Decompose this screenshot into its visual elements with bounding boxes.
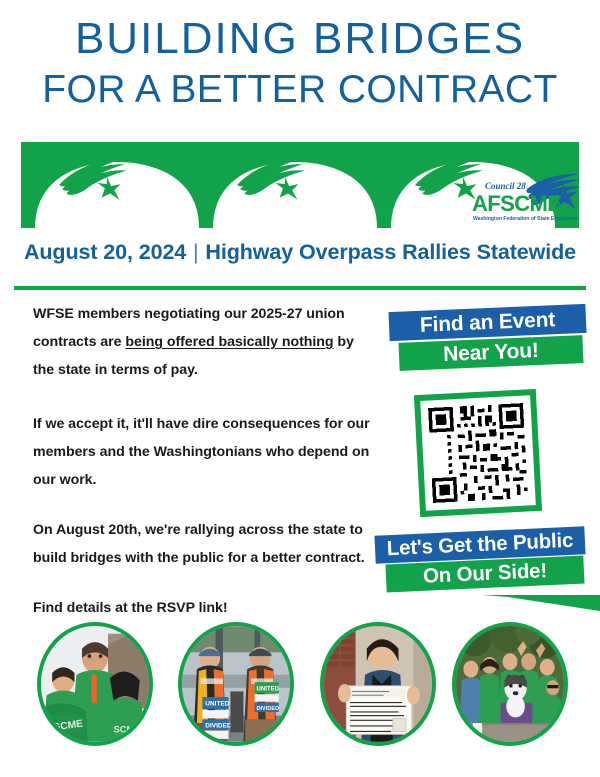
dateline-separator: | [192, 240, 200, 264]
event-dateline: August 20, 2024 | Highway Overpass Ralli… [0, 240, 600, 265]
svg-text:SCME: SCME [114, 724, 141, 734]
svg-text:Washington Federation of State: Washington Federation of State Employees [473, 216, 578, 222]
event-date: August 20, 2024 [24, 240, 186, 264]
svg-text:DIVIDED: DIVIDED [205, 723, 232, 730]
photo-strip: SCME SCME [0, 622, 600, 750]
photo-group-with-dog [452, 622, 568, 746]
photo-members-green-shirts: SCME SCME [37, 622, 153, 746]
section-divider [14, 286, 586, 290]
corner-accent [482, 595, 600, 611]
event-description: Highway Overpass Rallies Statewide [205, 240, 576, 264]
headline-line-2: FOR A BETTER CONTRACT [0, 67, 600, 113]
svg-text:UNITED: UNITED [256, 687, 279, 693]
qr-code-image [420, 395, 536, 511]
paragraph-2: If we accept it, it'll have dire consequ… [33, 410, 378, 494]
paragraph-1-emphasis: being offered basically nothing [125, 334, 333, 350]
photo-member-with-sign [320, 622, 436, 746]
svg-text:DIVIDED: DIVIDED [256, 706, 279, 712]
qr-code[interactable] [414, 389, 542, 517]
near-you-banner: Near You! [398, 335, 583, 371]
page-title: BUILDING BRIDGES FOR A BETTER CONTRACT [0, 14, 600, 113]
afscme-logo: Council 28 AFSCME Washington Federation … [471, 171, 583, 223]
body-copy: WFSE members negotiating our 2025-27 uni… [33, 300, 378, 644]
svg-text:Council 28: Council 28 [485, 181, 526, 191]
svg-text:AFSCME: AFSCME [472, 191, 561, 216]
svg-text:UNITED: UNITED [205, 700, 230, 707]
paragraph-4: Find details at the RSVP link! [33, 594, 378, 622]
paragraph-3: On August 20th, we're rallying across th… [33, 516, 378, 572]
headline-line-1: BUILDING BRIDGES [0, 14, 600, 64]
photo-workers-safety-vests: UNITED DIVIDED UNITED DIVIDED [178, 622, 294, 746]
paragraph-1: WFSE members negotiating our 2025-27 uni… [33, 300, 378, 384]
